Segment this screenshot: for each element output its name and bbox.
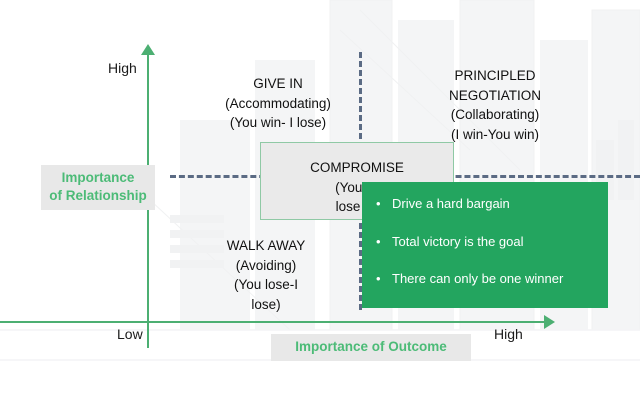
- x-axis-title: Importance of Outcome: [271, 334, 471, 361]
- y-axis-title-line2: of Relationship: [43, 187, 153, 205]
- callout-item-label: Drive a hard bargain: [392, 196, 510, 212]
- competing-callout-panel: • Drive a hard bargain • Total victory i…: [362, 182, 608, 308]
- callout-list-item: • There can only be one winner: [376, 271, 598, 287]
- y-axis-high-label: High: [108, 60, 137, 76]
- quadrant-principled-title-line1: PRINCIPLED: [410, 66, 580, 86]
- quadrant-principled-style: (Collaborating): [410, 105, 580, 125]
- quadrant-principled-title-line2: NEGOTIATION: [410, 86, 580, 106]
- callout-list-item: • Drive a hard bargain: [376, 196, 598, 212]
- quadrant-walk-away-outcome-line2: lose): [196, 295, 336, 315]
- quadrant-give-in-outcome: (You win- I lose): [198, 113, 358, 133]
- callout-item-label: There can only be one winner: [392, 271, 563, 287]
- x-axis-line: [0, 321, 546, 323]
- quadrant-principled-negotiation: PRINCIPLED NEGOTIATION (Collaborating) (…: [410, 66, 580, 144]
- y-axis-title: Importance of Relationship: [41, 165, 155, 210]
- y-axis-arrowhead-icon: [141, 44, 155, 55]
- callout-list-item: • Total victory is the goal: [376, 234, 598, 250]
- negotiation-matrix-diagram: High Low High Importance of Relationship…: [0, 0, 640, 400]
- quadrant-compromise-title: COMPROMISE: [260, 158, 454, 178]
- callout-item-label: Total victory is the goal: [392, 234, 524, 250]
- quadrant-give-in-style: (Accommodating): [198, 94, 358, 114]
- bullet-icon: •: [376, 271, 392, 287]
- quadrant-walk-away: WALK AWAY (Avoiding) (You lose-I lose): [196, 236, 336, 314]
- x-axis-low-label: Low: [117, 326, 143, 342]
- x-axis-high-label: High: [494, 326, 523, 342]
- bullet-icon: •: [376, 196, 392, 212]
- quadrant-give-in-title: GIVE IN: [198, 74, 358, 94]
- quadrant-give-in: GIVE IN (Accommodating) (You win- I lose…: [198, 74, 358, 133]
- x-axis-arrowhead-icon: [544, 315, 555, 329]
- quadrant-walk-away-title: WALK AWAY: [196, 236, 336, 256]
- bullet-icon: •: [376, 234, 392, 250]
- quadrant-walk-away-style: (Avoiding): [196, 256, 336, 276]
- y-axis-title-line1: Importance: [43, 169, 153, 187]
- quadrant-walk-away-outcome-line1: (You lose-I: [196, 275, 336, 295]
